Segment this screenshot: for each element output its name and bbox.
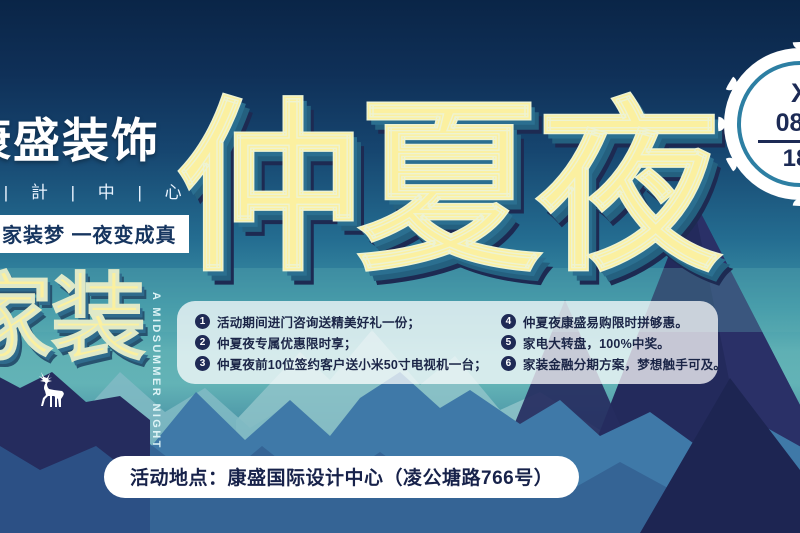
offer-number-badge: 6 (501, 356, 516, 371)
event-address: 活动地点：康盛国际设计中心（凌公塘路766号） (104, 456, 579, 498)
brand-logo-block: 康盛装饰 設 | 計 | 中 | 心 家装梦 一夜变成真 (0, 118, 204, 253)
offer-number-badge: 5 (501, 335, 516, 350)
page-title: 仲夏夜 (176, 96, 716, 282)
deer-silhouette-icon (28, 372, 74, 416)
offer-item: 6 家装金融分期方案，梦想触手可及。 (501, 354, 726, 373)
offer-text: 家装金融分期方案，梦想触手可及。 (523, 354, 726, 373)
offer-text: 仲夏夜康盛易购限时拼够惠。 (523, 312, 688, 331)
offer-item: 5 家电大转盘，100%中奖。 (501, 333, 726, 352)
vertical-english-caption: A MIDSUMMER NIGHT (150, 292, 162, 450)
offer-text: 仲夏夜前10位签约客户送小米50寸电视机一台； (217, 354, 487, 373)
offer-item: 2 仲夏夜专属优惠限时享； (195, 333, 487, 352)
offers-panel: 1 活动期间进门咨询送精美好礼一份； 2 仲夏夜专属优惠限时享； 3 仲夏夜前1… (177, 301, 718, 384)
offer-number-badge: 2 (195, 335, 210, 350)
offers-left-column: 1 活动期间进门咨询送精美好礼一份； 2 仲夏夜专属优惠限时享； 3 仲夏夜前1… (195, 312, 487, 373)
badge-heading: X (791, 79, 800, 107)
offer-item: 3 仲夏夜前10位签约客户送小米50寸电视机一台； (195, 354, 487, 373)
brand-subtitle: 設 | 計 | 中 | 心 (0, 178, 204, 203)
offer-item: 1 活动期间进门咨询送精美好礼一份； (195, 312, 487, 331)
badge-time: 18: (783, 146, 800, 172)
offer-number-badge: 4 (501, 314, 516, 329)
offer-text: 仲夏夜专属优惠限时享； (217, 333, 357, 352)
badge-date: 08/2 (776, 109, 800, 138)
promo-poster: 康盛装饰 設 | 計 | 中 | 心 家装梦 一夜变成真 家装 A MIDSUM… (0, 0, 800, 533)
offer-number-badge: 3 (195, 356, 210, 371)
offer-text: 家电大转盘，100%中奖。 (523, 333, 670, 352)
brand-tagline: 家装梦 一夜变成真 (0, 215, 189, 253)
badge-divider (758, 140, 800, 143)
badge-content: X 08/2 18: (727, 51, 800, 197)
left-feature-word: 家装 (0, 272, 144, 367)
offer-number-badge: 1 (195, 314, 210, 329)
offer-item: 4 仲夏夜康盛易购限时拼够惠。 (501, 312, 726, 331)
offers-right-column: 4 仲夏夜康盛易购限时拼够惠。 5 家电大转盘，100%中奖。 6 家装金融分期… (501, 312, 726, 373)
date-badge: X 08/2 18: (727, 51, 800, 197)
brand-name: 康盛装饰 (0, 118, 204, 165)
offer-text: 活动期间进门咨询送精美好礼一份； (217, 312, 420, 331)
